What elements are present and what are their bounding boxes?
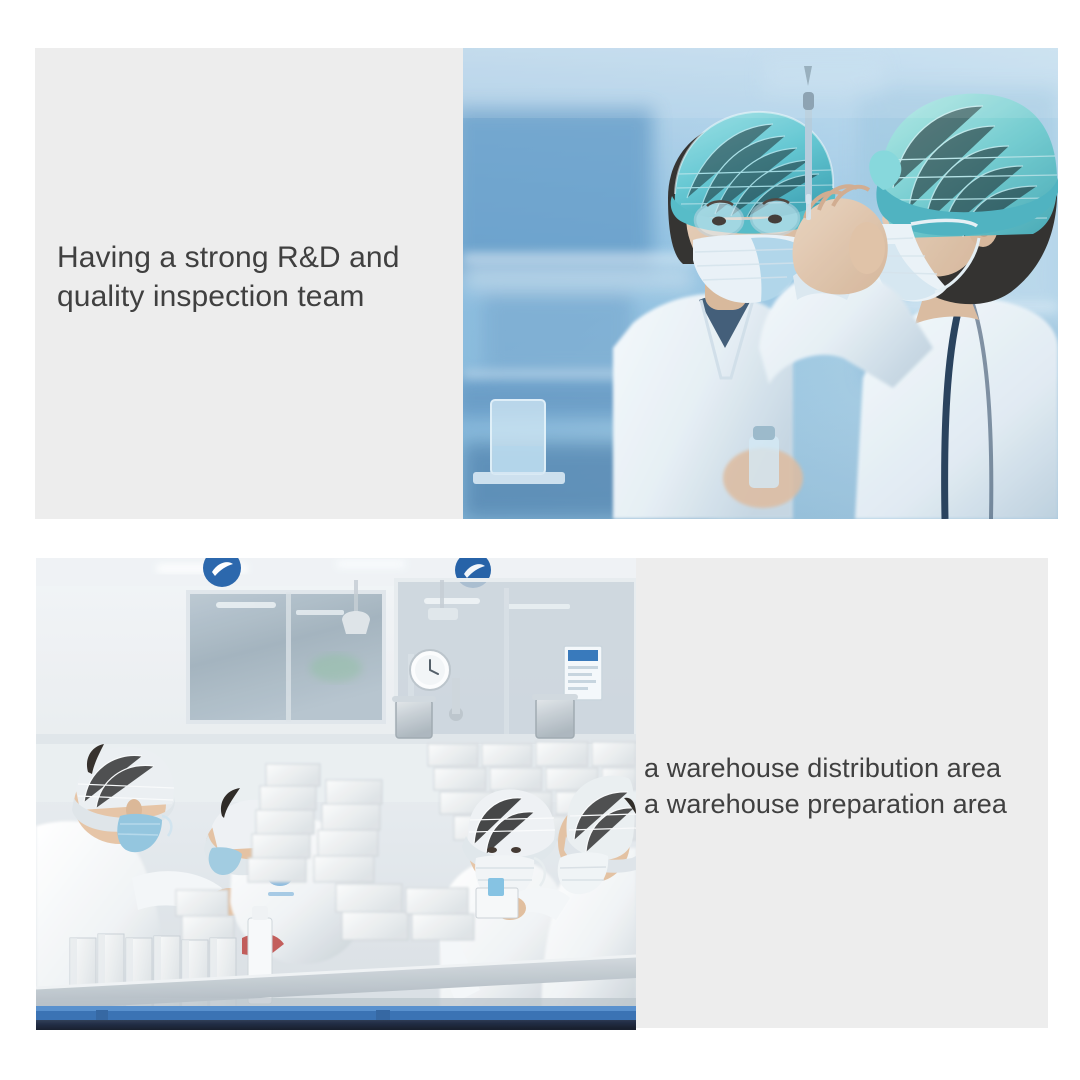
- top-section: Having a strong R&D and quality inspecti…: [35, 48, 1058, 519]
- top-caption-text: Having a strong R&D and quality inspecti…: [57, 238, 457, 316]
- top-caption-panel: Having a strong R&D and quality inspecti…: [35, 48, 463, 519]
- warehouse-packaging-photo: [36, 558, 636, 1030]
- page-canvas: Having a strong R&D and quality inspecti…: [0, 0, 1080, 1080]
- bottom-caption-text: a warehouse distribution area a warehous…: [644, 750, 1054, 822]
- bottom-caption-panel: a warehouse distribution area a warehous…: [636, 558, 1048, 1028]
- lab-inspection-photo: [463, 48, 1058, 519]
- bottom-section: a warehouse distribution area a warehous…: [36, 558, 1048, 1030]
